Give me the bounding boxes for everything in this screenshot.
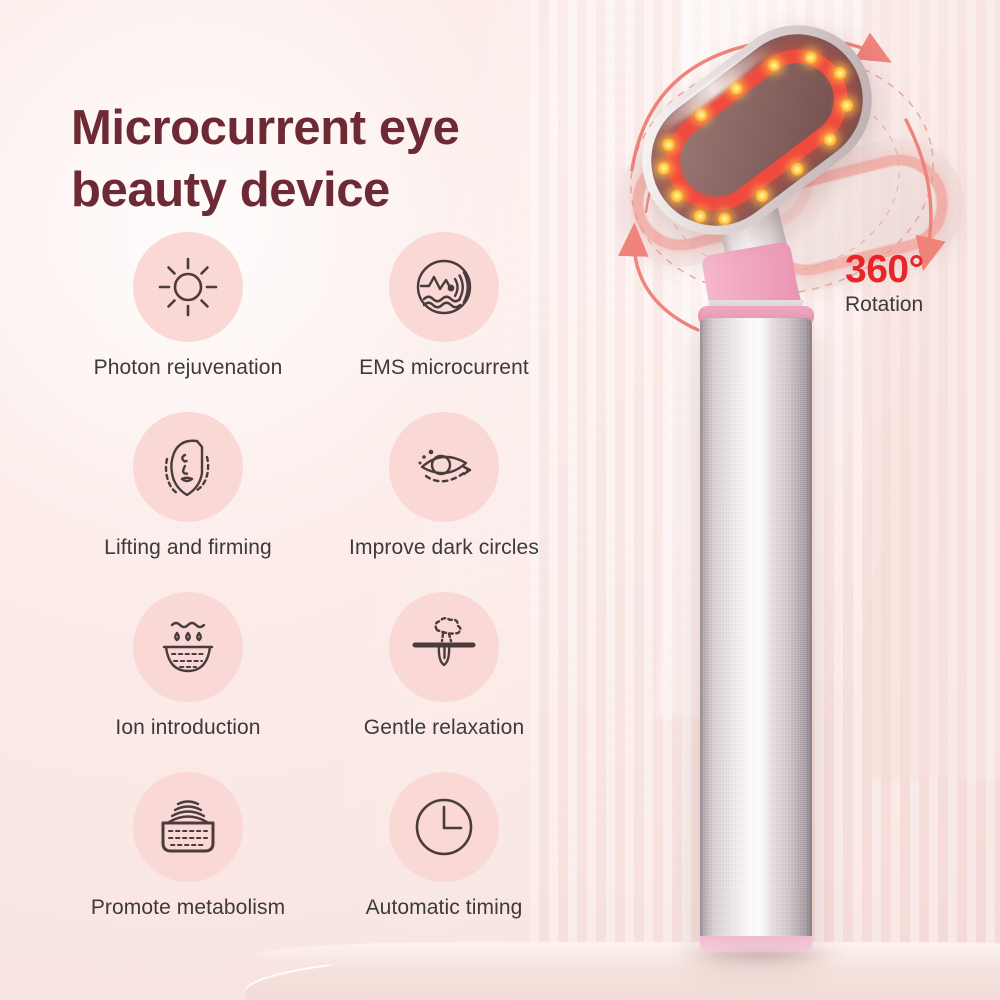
feature-label: Improve dark circles (316, 536, 572, 560)
title-line-1: Microcurrent eye (71, 101, 459, 155)
feature-item-lifting-and-firming[interactable]: Lifting and firming (60, 412, 316, 592)
feature-grid: Photon rejuvenation EMS microcurr (60, 232, 600, 952)
ems-wave-icon (389, 232, 499, 342)
feature-label: Photon rejuvenation (60, 356, 316, 380)
clock-icon (389, 772, 499, 882)
feature-label: EMS microcurrent (316, 356, 572, 380)
feature-item-automatic-timing[interactable]: Automatic timing (316, 772, 572, 952)
product-image (590, 0, 1000, 1000)
rotation-badge: 360° Rotation (845, 249, 995, 318)
product-contact-shadow (676, 944, 846, 966)
pore-steam-icon (389, 592, 499, 702)
product-promo-image: Microcurrent eye beauty device (0, 0, 1000, 1000)
sun-icon (133, 232, 243, 342)
skin-waves-icon (133, 772, 243, 882)
eye-icon (389, 412, 499, 522)
feature-row: Lifting and firming Improve dark circles (60, 412, 600, 592)
product-handle-highlight (746, 318, 772, 950)
title-line-2: beauty device (71, 159, 631, 221)
feature-label: Lifting and firming (60, 536, 316, 560)
feature-item-ion-introduction[interactable]: Ion introduction (60, 592, 316, 772)
rotation-label: Rotation (845, 292, 995, 318)
feature-label: Ion introduction (60, 716, 316, 740)
ion-droplet-icon (133, 592, 243, 702)
rotation-degrees: 360° (845, 249, 995, 291)
feature-item-promote-metabolism[interactable]: Promote metabolism (60, 772, 316, 952)
face-profile-icon (133, 412, 243, 522)
feature-item-ems-microcurrent[interactable]: EMS microcurrent (316, 232, 572, 412)
feature-row: Ion introduction Gentle relaxation (60, 592, 600, 772)
feature-row: Photon rejuvenation EMS microcurr (60, 232, 600, 412)
feature-label: Gentle relaxation (316, 716, 572, 740)
page-title: Microcurrent eye beauty device (71, 97, 631, 221)
feature-item-gentle-relaxation[interactable]: Gentle relaxation (316, 592, 572, 772)
feature-label: Promote metabolism (60, 896, 316, 920)
feature-label: Automatic timing (316, 896, 572, 920)
feature-item-improve-dark-circles[interactable]: Improve dark circles (316, 412, 572, 592)
feature-item-photon-rejuvenation[interactable]: Photon rejuvenation (60, 232, 316, 412)
product-handle (700, 318, 812, 950)
feature-row: Promote metabolism Automatic timing (60, 772, 600, 952)
